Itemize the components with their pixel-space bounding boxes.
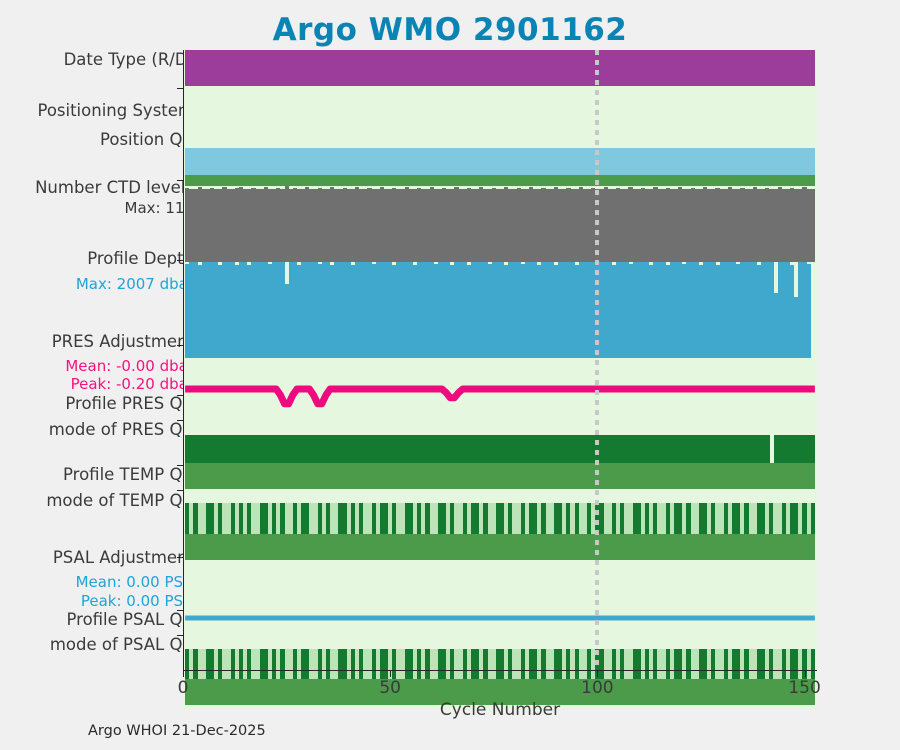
label-positioning-system: Positioning System (37, 102, 194, 119)
y-tick-modepsalqc (177, 635, 183, 636)
x-tick (597, 670, 598, 677)
label-mode-of-temp-qc: mode of TEMP QC (46, 492, 194, 509)
x-axis-label: Cycle Number (183, 700, 817, 720)
label-psal-adjustment: PSAL Adjustment (53, 549, 194, 566)
y-tick-ctd (177, 180, 183, 181)
y-tick-tempqc (177, 465, 183, 466)
qc-stripe (811, 503, 815, 534)
x-axis-line (183, 670, 817, 671)
x-tick-label: 0 (178, 678, 189, 698)
panel-temp-qc (183, 494, 817, 570)
y-tick-presadj (177, 345, 183, 346)
panel-date-type (183, 50, 817, 86)
panel-number-ctd-levels (183, 186, 817, 262)
qc-stripe (811, 649, 815, 679)
x-tick (805, 670, 806, 677)
band-profile-pres-qc (185, 435, 815, 463)
label-number-ctd-levels: Number CTD levels (35, 179, 194, 196)
bar (807, 264, 811, 358)
chart-plot-area (183, 50, 817, 670)
cycle-marker-line (595, 50, 599, 670)
page-title: Argo WMO 2901162 (0, 12, 900, 48)
label-profile-depth: Profile Depth (87, 250, 194, 267)
panel-pres-qc (183, 426, 817, 494)
label-position-qc: Position QC (100, 131, 194, 148)
band-date-type (185, 50, 815, 86)
stripes-profile-temp-qc (183, 503, 817, 534)
label-pres-adjustment: PRES Adjustment (52, 333, 194, 350)
x-tick (183, 670, 184, 677)
label-profile-psal-qc: Profile PSAL QC (66, 611, 194, 628)
band-mode-of-pres-qc (185, 463, 815, 489)
band-positioning-system (185, 148, 815, 175)
y-tick-psaladj (177, 557, 183, 558)
label-pres-mean: Mean: -0.00 dbar (65, 359, 194, 375)
label-mode-of-psal-qc: mode of PSAL QC (50, 636, 194, 653)
y-tick-modetempqc (177, 490, 183, 491)
x-tick (390, 670, 391, 677)
panel-positioning (183, 86, 817, 186)
bars-number-ctd-levels (183, 186, 817, 262)
panel-profile-depth (183, 262, 817, 358)
panel-psal-adjustment (183, 570, 817, 638)
x-tick-label: 150 (788, 678, 820, 698)
y-tick-psalqc (177, 610, 183, 611)
label-pres-peak: Peak: -0.20 dbar (71, 377, 194, 393)
bars-profile-depth (183, 262, 817, 358)
label-profile-temp-qc: Profile TEMP QC (63, 466, 194, 483)
panel-pres-adjustment (183, 358, 817, 426)
y-tick-depth (177, 260, 183, 261)
line-pres-adjustment (183, 358, 817, 426)
label-psal-peak: Peak: 0.00 PSU (81, 594, 194, 610)
band-mode-of-temp-qc (185, 534, 815, 560)
adjustment-line (185, 389, 815, 404)
label-date-type: Date Type (R/D) (64, 51, 194, 68)
line-psal-adjustment (183, 570, 817, 638)
label-profile-pres-qc: Profile PRES QC (65, 395, 194, 412)
footer-credit: Argo WHOI 21-Dec-2025 (88, 723, 266, 739)
x-tick-label: 50 (379, 678, 401, 698)
label-profile-depth-max: Max: 2007 dbar (76, 277, 194, 293)
stripes-profile-psal-qc (183, 649, 817, 679)
label-psal-mean: Mean: 0.00 PSU (76, 575, 194, 591)
y-tick-presqc (177, 395, 183, 396)
y-axis-line (183, 50, 184, 670)
y-tick-modepresqc (177, 420, 183, 421)
x-tick-label: 100 (581, 678, 613, 698)
bar (811, 189, 815, 262)
label-mode-of-pres-qc: mode of PRES QC (49, 421, 194, 438)
y-tick-positioning (177, 88, 183, 89)
band-position-qc (185, 175, 815, 186)
